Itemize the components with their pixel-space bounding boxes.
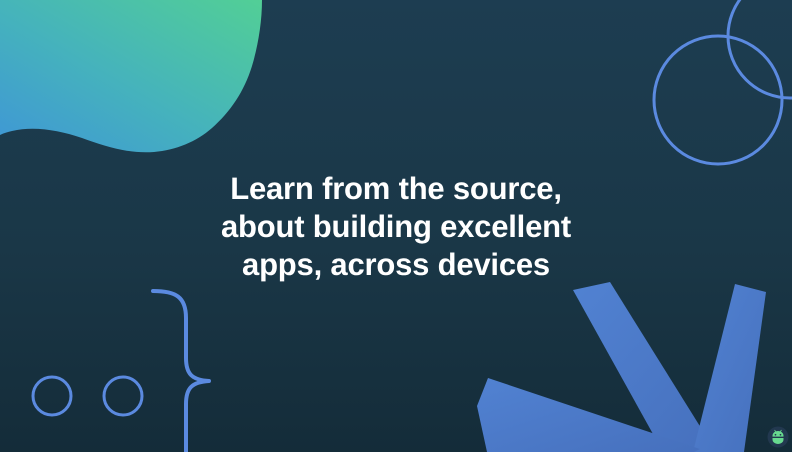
page-title: Learn from the source, about building ex… [0,170,792,284]
presentation-slide: Learn from the source, about building ex… [0,0,792,452]
android-logo-badge [767,426,789,448]
badge-background [768,427,789,448]
